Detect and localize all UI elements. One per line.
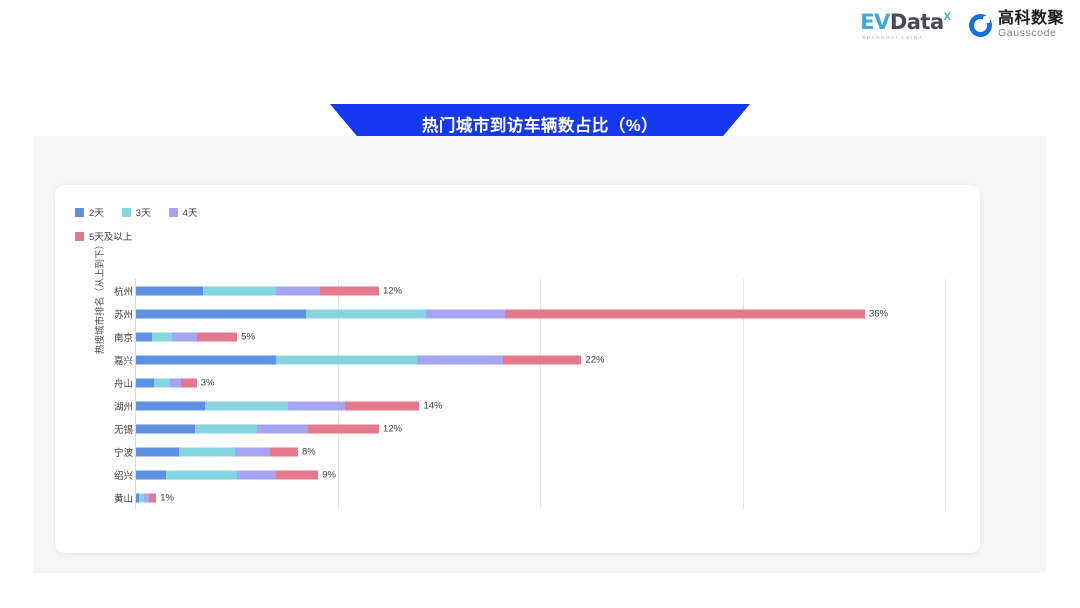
bar-segment [426,309,505,318]
bar-segment [152,332,172,341]
page-title: 热门城市到访车辆数占比（%） [422,112,658,136]
bar-segment [203,286,276,295]
bar-segment [179,447,236,456]
bar-row[interactable]: 12% [136,286,402,295]
bar-row[interactable]: 14% [136,401,442,410]
bar-segment [136,401,205,410]
bar-segment [136,355,276,364]
gausscode-logo: 高科数聚 Gausscode [969,11,1064,39]
bar-row[interactable]: 5% [136,332,255,341]
bar-segment [136,424,195,433]
bar-segment [276,470,319,479]
bar-segment [308,424,379,433]
bar-segment [136,378,154,387]
bar-row[interactable]: 36% [136,309,888,318]
bar-segment [257,424,308,433]
bar-segment [345,401,420,410]
y-axis-tick-label: 舟山 [83,376,133,390]
y-axis-tick-label: 宁波 [83,445,133,459]
bar-segment [136,286,203,295]
bar-segment [136,332,152,341]
bar-segment [166,470,237,479]
bar-row[interactable]: 22% [136,355,605,364]
y-axis-tick-label: 嘉兴 [83,353,133,367]
bar-segment [306,309,425,318]
bar-segment [172,332,196,341]
bar-segment [235,447,269,456]
bar-segment [154,378,170,387]
bar-value-label: 22% [585,354,604,365]
bar-value-label: 3% [201,377,215,388]
bar-row[interactable]: 8% [136,447,316,456]
bar-row[interactable]: 1% [136,493,174,502]
y-axis-tick-label: 苏州 [83,307,133,321]
y-axis-tick-label: 绍兴 [83,468,133,482]
bar-value-label: 12% [383,423,402,434]
bar-value-label: 12% [383,285,402,296]
bar-segment [237,470,275,479]
bar-segment [136,447,179,456]
bar-segment [503,355,582,364]
evdata-ev-text: EV [860,10,890,34]
gausscode-g-mark-icon [969,14,992,37]
bar-segment [276,355,418,364]
bar-segment [417,355,502,364]
y-axis-tick-label: 南京 [83,330,133,344]
bar-row[interactable]: 3% [136,378,214,387]
bar-segment [276,286,321,295]
bar-value-label: 8% [302,446,316,457]
y-axis-tick-label: 湖州 [83,399,133,413]
brand-logo-bar: EV Data X SHANGHAI CHINA 高科数聚 Gausscode [860,10,1064,40]
bar-segment [136,470,166,479]
plot-area: 12%36%5%22%3%14%12%8%9%1% [135,279,945,509]
evdata-tagline: SHANGHAI CHINA [862,35,923,40]
bar-segment [181,378,197,387]
bar-value-label: 14% [423,400,442,411]
y-axis-tick-labels: 杭州苏州南京嘉兴舟山湖州无锡宁波绍兴黄山 [81,185,133,553]
bar-segment [205,401,288,410]
evdata-wordmark: EV Data X [860,10,951,34]
bar-value-label: 5% [241,331,255,342]
bar-segment [136,309,306,318]
bar-value-label: 9% [322,469,336,480]
evdata-data-text: Data [890,10,944,34]
gausscode-wordmark: 高科数聚 Gausscode [998,11,1064,39]
chart-card: 2天3天4天5天及以上 热搜城市排名（从上到下） 杭州苏州南京嘉兴舟山湖州无锡宁… [55,185,980,553]
bar-segment [170,378,180,387]
bar-segment [505,309,865,318]
y-axis-tick-label: 黄山 [83,491,133,505]
bar-segment [197,332,238,341]
bar-segment [288,401,345,410]
x-gridline [945,279,946,509]
bar-segment [270,447,298,456]
chart-plot: 热搜城市排名（从上到下） 杭州苏州南京嘉兴舟山湖州无锡宁波绍兴黄山 12%36%… [55,185,980,553]
y-axis-tick-label: 无锡 [83,422,133,436]
bar-segment [320,286,379,295]
bar-segment [195,424,258,433]
bar-row[interactable]: 9% [136,470,336,479]
evdata-logo: EV Data X SHANGHAI CHINA [860,10,951,40]
bar-value-label: 1% [160,492,174,503]
y-axis-tick-label: 杭州 [83,284,133,298]
slide-root: EV Data X SHANGHAI CHINA 高科数聚 Gausscode … [0,0,1080,608]
evdata-superscript-x: X [944,11,951,23]
bar-row[interactable]: 12% [136,424,402,433]
gausscode-english-name: Gausscode [998,28,1064,39]
bar-segment [149,493,156,502]
bar-value-label: 36% [869,308,888,319]
gausscode-chinese-name: 高科数聚 [998,11,1064,28]
